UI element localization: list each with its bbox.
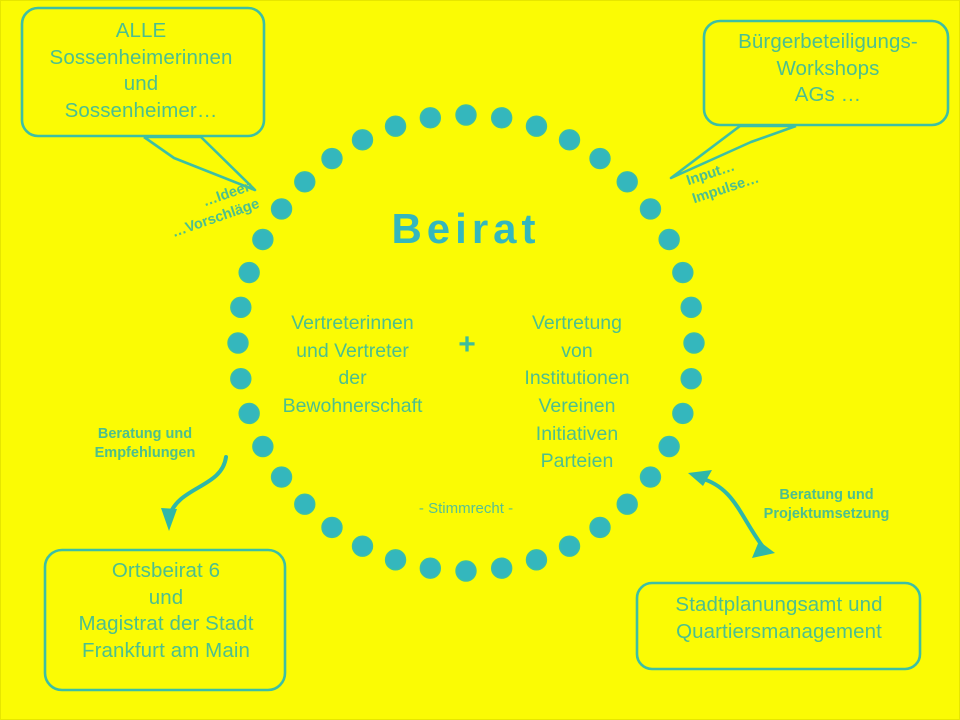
- annotation-beratung-empfehlungen: Beratung und Empfehlungen: [78, 425, 212, 463]
- circle-dot: [420, 558, 440, 578]
- circle-dot: [659, 229, 679, 249]
- circle-dot: [272, 467, 292, 487]
- circle-dot: [386, 116, 406, 136]
- circle-dot: [492, 558, 512, 578]
- circle-dot: [352, 536, 372, 556]
- circle-dot: [684, 333, 704, 353]
- circle-dot: [560, 536, 580, 556]
- circle-dot: [231, 297, 251, 317]
- circle-dot: [659, 437, 679, 457]
- circle-dot: [640, 199, 660, 219]
- arrow-to-ortsbeirat: [161, 457, 226, 531]
- annotation-beratung-projektumsetzung: Beratung und Projektumsetzung: [744, 486, 909, 524]
- circle-dot: [239, 403, 259, 423]
- circle-dot: [590, 149, 610, 169]
- page-title: Beirat: [300, 205, 632, 253]
- diagram-canvas: ALLE Sossenheimerinnen und Sossenheimer……: [0, 0, 960, 720]
- circle-dot: [673, 403, 693, 423]
- circle-dot: [590, 517, 610, 537]
- circle-dot: [253, 437, 273, 457]
- circle-dot: [228, 333, 248, 353]
- circle-dot: [456, 105, 476, 125]
- circle-dot: [272, 199, 292, 219]
- circle-dot: [681, 369, 701, 389]
- circle-dot: [253, 229, 273, 249]
- circle-dot: [526, 116, 546, 136]
- bubble-top-right-label: Bürgerbeteiligungs- Workshops AGs …: [708, 29, 948, 109]
- circle-dot: [560, 130, 580, 150]
- circle-dot: [526, 550, 546, 570]
- center-right-column: Vertretung von Institutionen Vereinen In…: [492, 310, 662, 476]
- circle-dot: [231, 369, 251, 389]
- plus-symbol: +: [452, 330, 482, 360]
- circle-dot: [456, 561, 476, 581]
- circle-dot: [617, 494, 637, 514]
- bubble-bottom-left-label: Ortsbeirat 6 und Magistrat der Stadt Fra…: [50, 558, 282, 665]
- circle-dot: [295, 172, 315, 192]
- circle-dot: [322, 517, 342, 537]
- bubble-top-left-label: ALLE Sossenheimerinnen und Sossenheimer…: [16, 18, 266, 125]
- circle-dot: [239, 263, 259, 283]
- circle-dot: [420, 108, 440, 128]
- circle-dot: [673, 263, 693, 283]
- circle-dot: [617, 172, 637, 192]
- circle-dot: [352, 130, 372, 150]
- circle-dot: [322, 149, 342, 169]
- circle-dot: [681, 297, 701, 317]
- circle-dot: [295, 494, 315, 514]
- circle-dot: [492, 108, 512, 128]
- center-left-column: Vertreterinnen und Vertreter der Bewohne…: [270, 310, 435, 421]
- bubble-bottom-right-label: Stadtplanungsamt und Quartiersmanagement: [640, 592, 918, 645]
- voting-right-note: - Stimmrecht -: [366, 500, 566, 517]
- circle-dot: [386, 550, 406, 570]
